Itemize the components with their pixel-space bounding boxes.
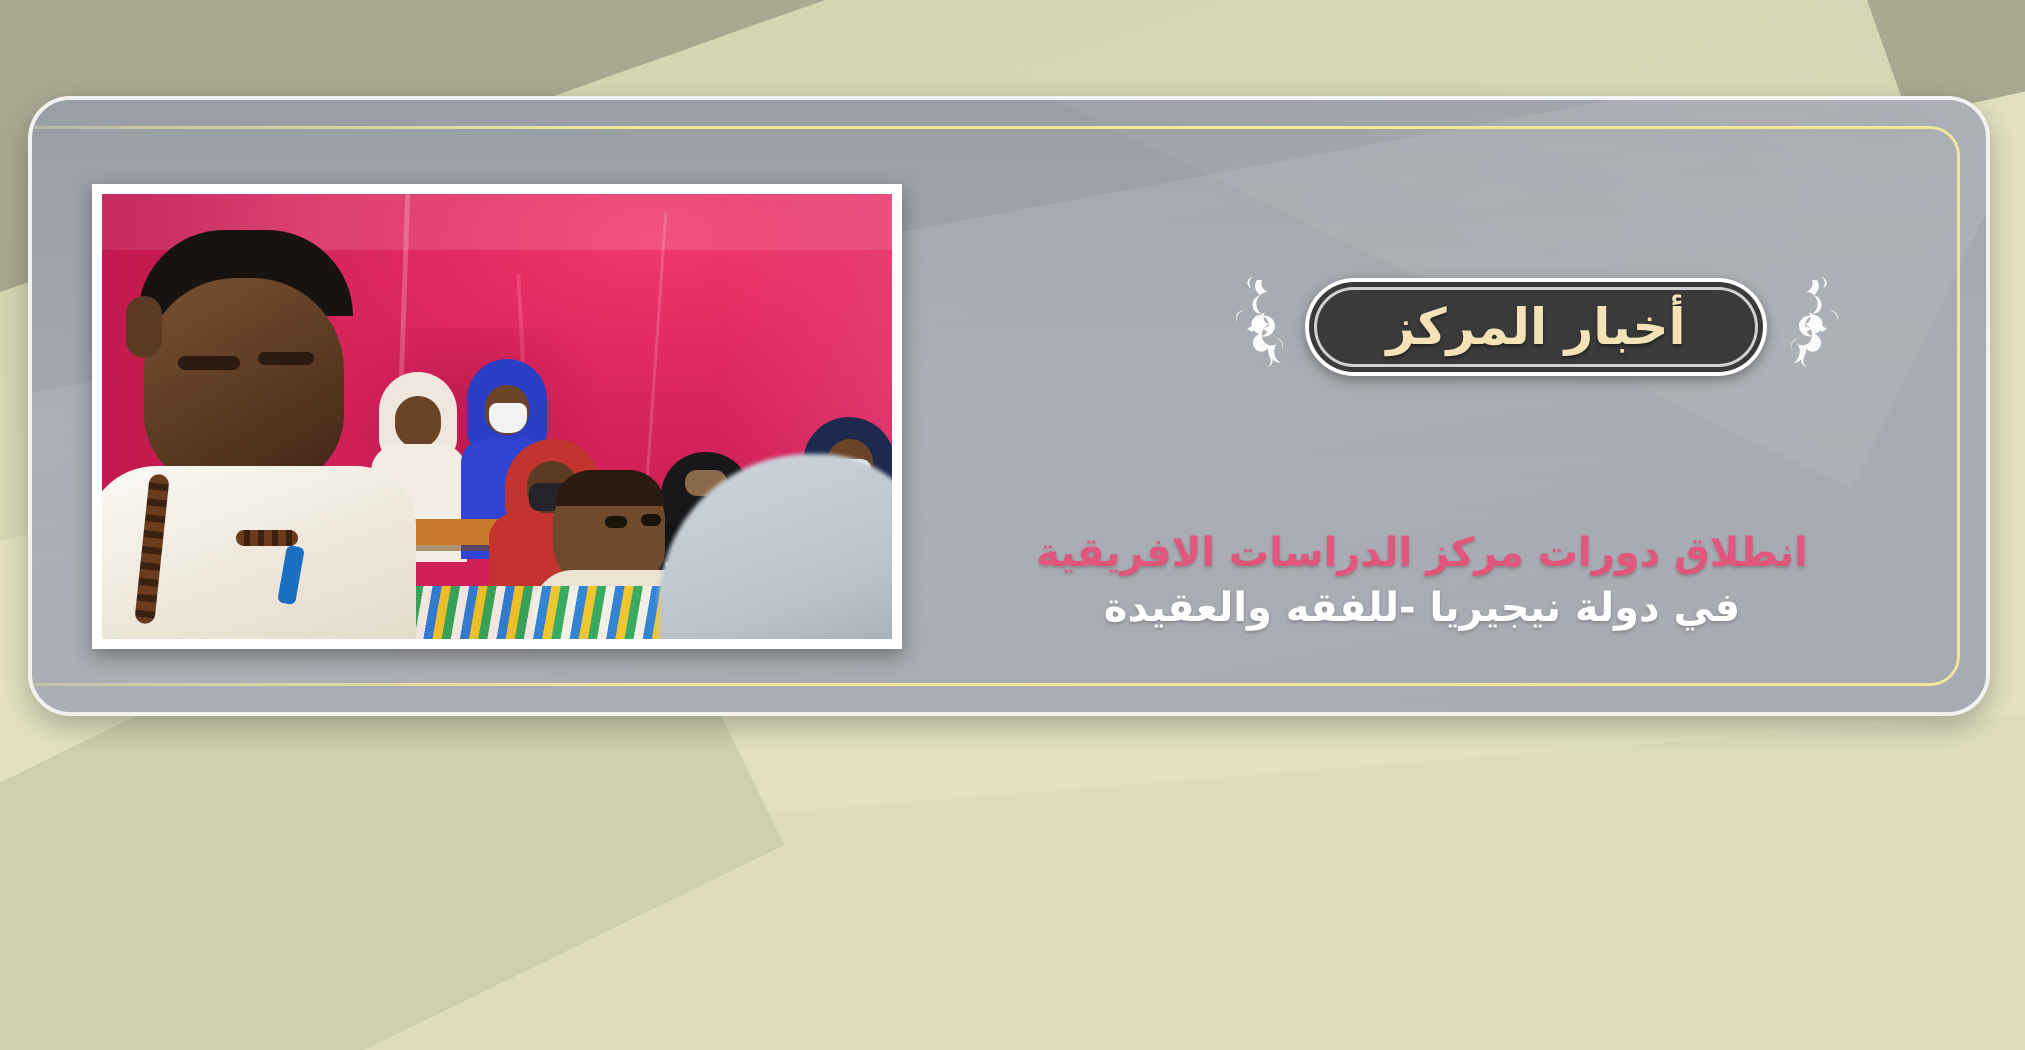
damask-flourish-ornament xyxy=(1777,276,1851,368)
tent-crease-3 xyxy=(646,212,668,479)
news-headline: انطلاق دورات مركز الدراسات الافريقية في … xyxy=(892,530,1952,633)
headline-line-2: في دولة نيجيريا -للفقه والعقيدة xyxy=(892,583,1952,633)
news-card-panel: أخبار المركز xyxy=(28,96,1990,716)
section-title-badge[interactable]: أخبار المركز xyxy=(1305,278,1767,376)
news-photo-frame xyxy=(92,184,902,649)
title-row: أخبار المركز xyxy=(1227,272,1847,382)
news-photo xyxy=(102,194,892,639)
section-title-label: أخبار المركز xyxy=(1386,302,1685,352)
headline-line-1: انطلاق دورات مركز الدراسات الافريقية xyxy=(892,530,1952,577)
photo-person-man-white-robe xyxy=(102,230,416,639)
damask-flourish-ornament xyxy=(1223,276,1297,368)
